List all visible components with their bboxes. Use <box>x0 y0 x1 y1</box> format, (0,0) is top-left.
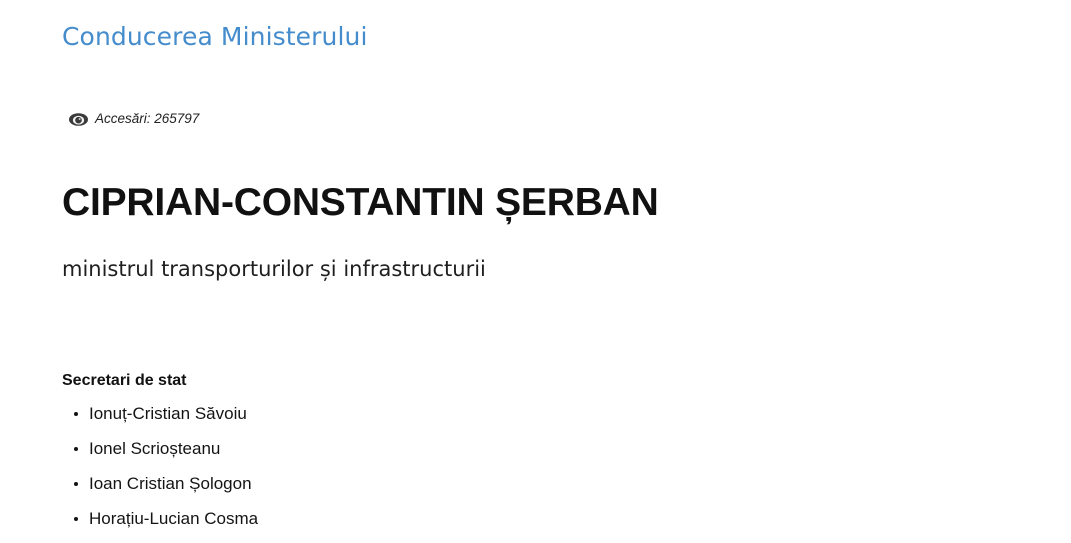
minister-name: CIPRIAN-CONSTANTIN ȘERBAN <box>62 180 659 226</box>
list-item: Ioan Cristian Șologon <box>62 470 662 505</box>
list-item-label: Ioan Cristian Șologon <box>89 474 252 493</box>
access-counter-label: Accesări: 265797 <box>95 110 199 128</box>
list-item-label: Ionel Scrioșteanu <box>89 439 220 458</box>
section-heading-secretari-de-stat: Secretari de stat <box>62 370 187 391</box>
page-root: Conducerea Ministerului Accesări: 265797… <box>0 0 1071 543</box>
list-item: Ionel Scrioșteanu <box>62 435 662 470</box>
list-item: Ionuț-Cristian Săvoiu <box>62 400 662 435</box>
bullet-icon <box>74 482 78 486</box>
list-item-label: Horațiu-Lucian Cosma <box>89 509 258 528</box>
access-counter: Accesări: 265797 <box>69 108 199 130</box>
bullet-icon <box>74 412 78 416</box>
list-item-label: Ionuț-Cristian Săvoiu <box>89 404 247 423</box>
page-title: Conducerea Ministerului <box>62 21 368 52</box>
list-item: Horațiu-Lucian Cosma <box>62 505 662 540</box>
minister-role: ministrul transporturilor și infrastruct… <box>62 255 486 284</box>
bullet-icon <box>74 447 78 451</box>
secretari-de-stat-list: Ionuț-Cristian Săvoiu Ionel Scrioșteanu … <box>62 400 662 540</box>
bullet-icon <box>74 517 78 521</box>
eye-icon <box>69 113 88 126</box>
